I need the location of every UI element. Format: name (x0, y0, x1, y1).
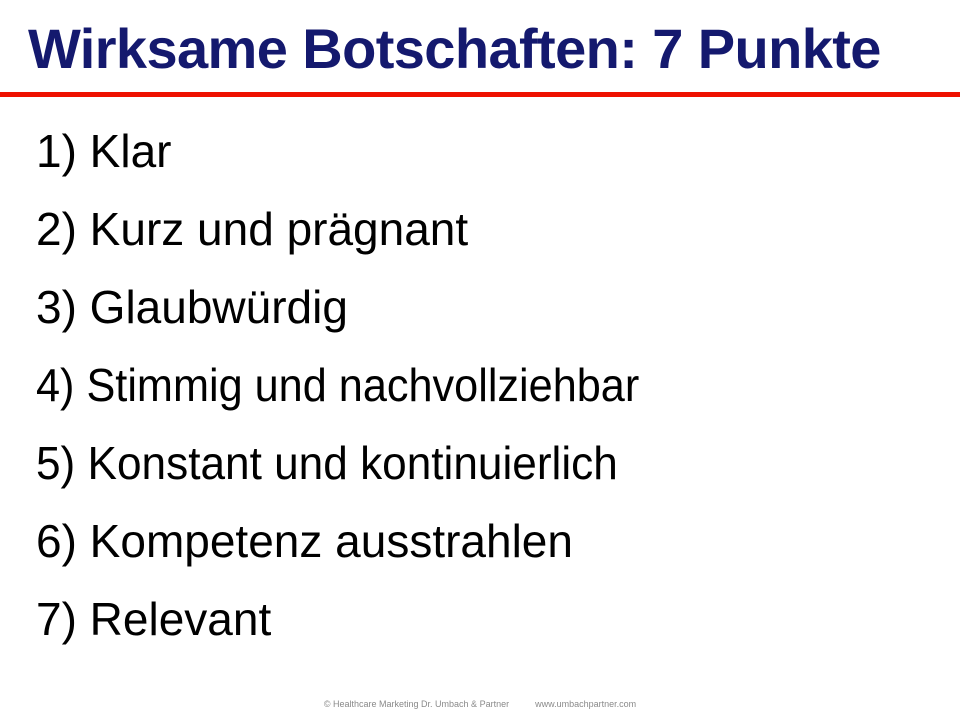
list-item-label: 6) Kompetenz ausstrahlen (36, 502, 573, 580)
list-item: 6) Kompetenz ausstrahlen (0, 502, 960, 580)
list-item: 1) Klar (0, 112, 960, 190)
page-title: Wirksame Botschaften: 7 Punkte (28, 16, 936, 82)
list-item-label: 7) Relevant (36, 580, 271, 658)
footer-copyright: © Healthcare Marketing Dr. Umbach & Part… (324, 699, 509, 709)
list-item-label: 4) Stimmig und nachvollziehbar (36, 346, 639, 424)
list-item: 2) Kurz und prägnant (0, 190, 960, 268)
list-item-label: 5) Konstant und kontinuierlich (36, 424, 618, 502)
footer-website: www.umbachpartner.com (535, 699, 636, 709)
list-item-label: 1) Klar (36, 112, 171, 190)
list-item: 4) Stimmig und nachvollziehbar (0, 346, 960, 424)
list-item-label: 2) Kurz und prägnant (36, 190, 468, 268)
slide: Wirksame Botschaften: 7 Punkte 1) Klar 2… (0, 0, 960, 720)
list-item: 5) Konstant und kontinuierlich (0, 424, 960, 502)
list-item: 3) Glaubwürdig (0, 268, 960, 346)
slide-footer: © Healthcare Marketing Dr. Umbach & Part… (0, 698, 960, 710)
title-block: Wirksame Botschaften: 7 Punkte (0, 16, 960, 88)
list-item-label: 3) Glaubwürdig (36, 268, 348, 346)
title-divider-rule (0, 92, 960, 97)
points-list: 1) Klar 2) Kurz und prägnant 3) Glaubwür… (0, 112, 960, 658)
list-item: 7) Relevant (0, 580, 960, 658)
